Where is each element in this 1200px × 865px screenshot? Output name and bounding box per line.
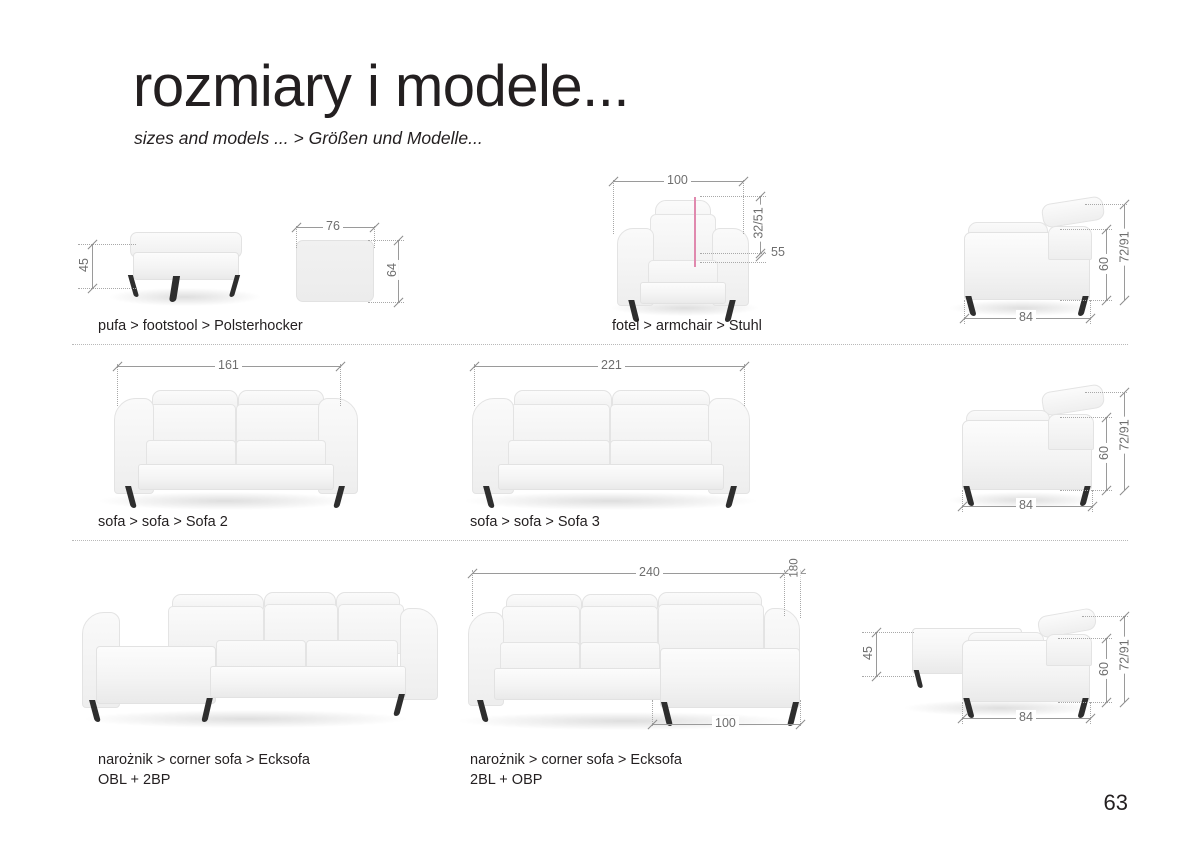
divider-row-2 — [72, 540, 1128, 541]
dim-label-64-footstool: 64 — [385, 260, 399, 280]
dim-label-60-armchair-side: 60 — [1097, 254, 1111, 274]
dim-label-55-armchair: 55 — [768, 245, 788, 259]
dim-label-84-sofa-side: 84 — [1016, 498, 1036, 512]
caption-corner-left-line1: narożnik > corner sofa > Ecksofa — [98, 750, 310, 771]
dim-label-45-footstool: 45 — [77, 255, 91, 275]
caption-corner-right-line2: 2BL + OBP — [470, 770, 542, 791]
accent-marker-line — [694, 197, 696, 267]
divider-row-1 — [72, 344, 1128, 345]
dim-label-60-sofa-side: 60 — [1097, 443, 1111, 463]
dim-label-221-sofa3: 221 — [598, 358, 625, 372]
caption-corner-left-line2: OBL + 2BP — [98, 770, 170, 791]
caption-corner-right-line1: narożnik > corner sofa > Ecksofa — [470, 750, 682, 771]
dim-label-7291-sofa-side: 72/91 — [1118, 416, 1132, 453]
dim-label-240-corner: 240 — [636, 565, 663, 579]
page-number: 63 — [1104, 790, 1128, 816]
page-subtitle: sizes and models ... > Größen und Modell… — [134, 128, 483, 149]
dim-label-76-footstool: 76 — [323, 219, 343, 233]
dim-label-7291-armchair-side: 72/91 — [1118, 228, 1132, 265]
page-title: rozmiary i modele... — [133, 58, 629, 116]
caption-sofa-2: sofa > sofa > Sofa 2 — [98, 512, 228, 533]
dim-label-60-corner-side: 60 — [1097, 659, 1111, 679]
dim-label-180-corner: 180 — [789, 555, 801, 580]
dim-label-161-sofa2: 161 — [215, 358, 242, 372]
caption-sofa-3: sofa > sofa > Sofa 3 — [470, 512, 600, 533]
caption-footstool: pufa > footstool > Polsterhocker — [98, 316, 303, 337]
dim-label-45-corner-side: 45 — [861, 643, 875, 663]
dim-label-84-corner-side: 84 — [1016, 710, 1036, 724]
dim-label-84-armchair-side: 84 — [1016, 310, 1036, 324]
caption-armchair: fotel > armchair > Stuhl — [612, 316, 762, 337]
dim-label-3251-armchair: 32/51 — [752, 204, 766, 241]
catalog-page: rozmiary i modele... sizes and models ..… — [0, 0, 1200, 865]
dim-label-7291-corner-side: 72/91 — [1118, 636, 1132, 673]
dim-label-100-armchair: 100 — [664, 173, 691, 187]
dim-label-100-corner: 100 — [712, 716, 739, 730]
